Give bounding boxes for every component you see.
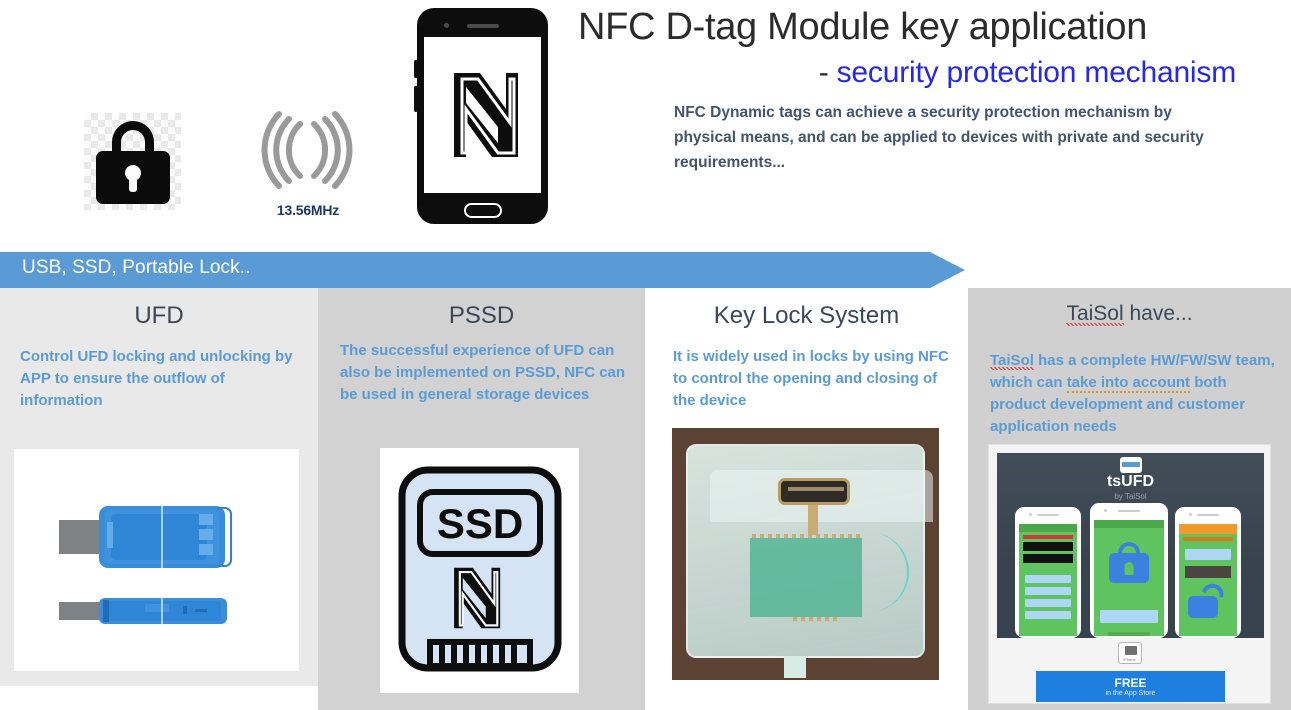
phone-speaker: [467, 24, 499, 28]
ssd-nfc-icon: SSD: [380, 448, 579, 693]
iphone-badge-label: iPhone: [1119, 657, 1141, 662]
heading-spellcheck-word: TaiSol: [1066, 302, 1123, 326]
column-body-key-lock-system: It is widely used in locks by using NFC …: [673, 346, 953, 412]
green-pcb: [750, 538, 862, 617]
column-body-ufd: Control UFD locking and unlocking by APP…: [20, 346, 305, 412]
phone-screen: [424, 37, 541, 193]
nfc-tag-trace: [788, 487, 844, 491]
free-button-sub-label: in the App Store: [1036, 690, 1225, 697]
padlock-shackle: [112, 121, 154, 155]
page-title: NFC D-tag Module key application: [578, 6, 1278, 49]
nfc-logo-icon: [440, 65, 525, 165]
arrow-banner-label: USB, SSD, Portable Lock..: [22, 257, 251, 279]
ssd-label-text: SSD: [436, 500, 522, 547]
column-heading-pssd: PSSD: [318, 302, 645, 330]
phone-left-screen: [1019, 524, 1077, 636]
column-key-lock-system: Key Lock System It is widely used in loc…: [645, 288, 968, 698]
nfc-tag-module: [778, 478, 850, 505]
column-body-taisol: TaiSol has a complete HW/FW/SW team, whi…: [990, 350, 1282, 438]
app-subtitle: by TaiSol: [997, 492, 1264, 501]
heading-rest: have...: [1124, 302, 1193, 325]
phone-side-button-1: [414, 60, 418, 78]
slide-root: 13.56MHz NFC D-tag Module key applicatio…: [0, 0, 1291, 710]
padlock-icon: [84, 113, 181, 210]
translucent-box: [686, 444, 925, 658]
hero-description: NFC Dynamic tags can achieve a security …: [674, 100, 1234, 175]
phone-mockup-left: [1015, 507, 1081, 638]
nfc-waves-icon: [258, 110, 356, 190]
column-heading-ufd: UFD: [0, 302, 318, 330]
free-button-main-label: FREE: [1036, 676, 1225, 690]
app-title: tsUFD: [997, 473, 1264, 491]
padlock-keyhole-stem: [129, 176, 137, 192]
hero-section: 13.56MHz NFC D-tag Module key applicatio…: [0, 0, 1291, 245]
column-ufd: UFD Control UFD locking and unlocking by…: [0, 288, 318, 686]
usb-drive-side-view: [59, 594, 252, 633]
subtitle-dash: -: [819, 56, 837, 89]
column-heading-key-lock-system: Key Lock System: [645, 302, 968, 330]
iphone-badge-icon: iPhone: [1118, 642, 1142, 664]
subtitle-highlight: security protection mechanism: [837, 56, 1236, 89]
phone-home-button: [464, 203, 502, 218]
teal-wire: [851, 532, 909, 612]
usb-drive-top-view: [59, 502, 252, 577]
antenna-stem: [808, 505, 818, 535]
column-body-pssd: The successful experience of UFD can als…: [340, 340, 628, 406]
app-icon: [1120, 457, 1142, 473]
smartphone-nfc-icon: [417, 8, 548, 224]
column-pssd: PSSD The successful experience of UFD ca…: [318, 288, 645, 710]
phone-right-screen: [1179, 524, 1237, 636]
phone-center-screen: [1094, 520, 1164, 636]
frequency-label: 13.56MHz: [256, 202, 360, 218]
phone-mockup-right: [1175, 507, 1241, 638]
cable-plug: [784, 656, 806, 678]
usb-flash-drives-image: [14, 449, 299, 671]
pcb-header-pins-bottom: [793, 617, 838, 621]
page-subtitle: - security protection mechanism: [578, 56, 1278, 90]
phone-side-button-2: [414, 86, 418, 112]
body-grammar-phrase: take into account: [1067, 374, 1190, 393]
lock-box-photo: [672, 428, 939, 680]
column-taisol: TaiSol have... TaiSol has a complete HW/…: [968, 288, 1291, 710]
phone-mockup-center: [1090, 503, 1168, 638]
app-promo-hero: tsUFD by TaiSol: [997, 453, 1264, 638]
phone-camera-icon: [444, 23, 449, 28]
free-app-store-button[interactable]: FREE in the App Store: [1036, 671, 1225, 702]
app-store-promo-image: tsUFD by TaiSol: [988, 444, 1271, 704]
column-heading-taisol: TaiSol have...: [968, 302, 1291, 326]
body-spellcheck-word: TaiSol: [990, 352, 1034, 370]
